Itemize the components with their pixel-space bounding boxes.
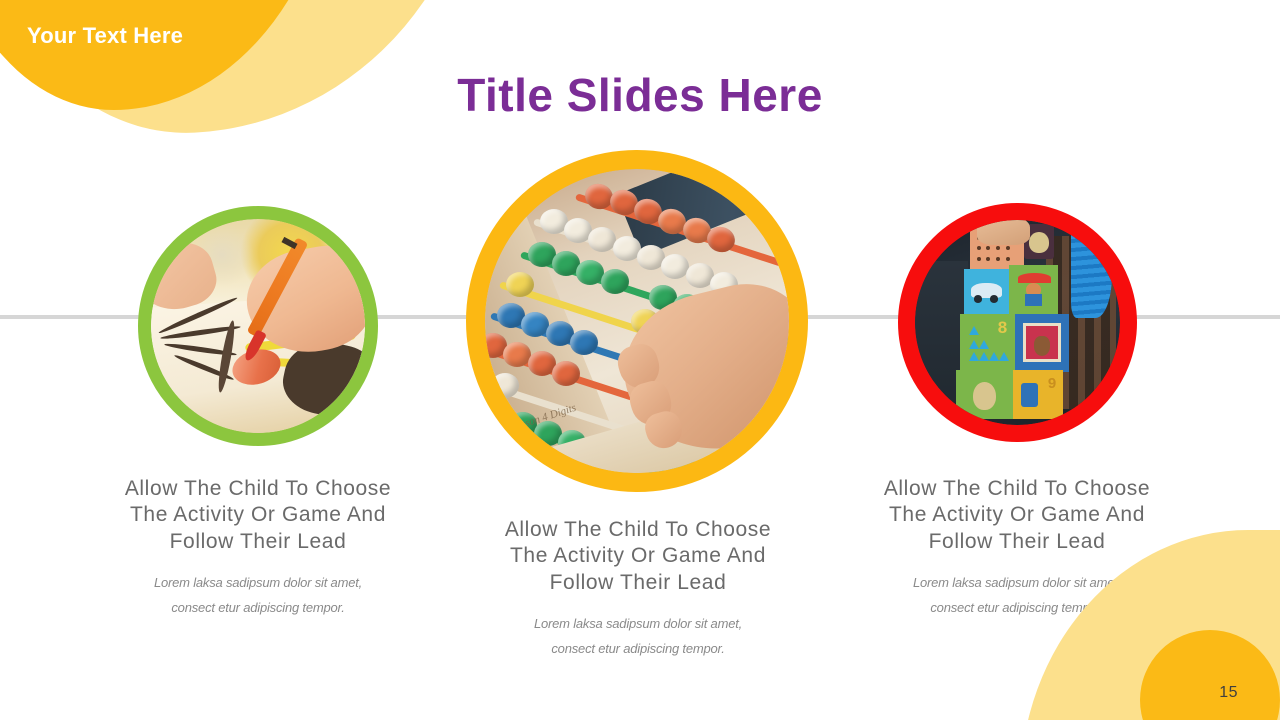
column-body-left: Lorem laksa sadipsum dolor sit amet, con…: [108, 571, 408, 620]
image-circle-left[interactable]: [138, 206, 378, 446]
photo-child-coloring: [151, 219, 365, 433]
slide-canvas: Your Text Here Title Slides Here: [0, 0, 1280, 720]
block-number-9: 9: [1048, 375, 1056, 392]
photo-toy-blocks: 8 9: [915, 220, 1120, 425]
image-circle-right[interactable]: 8 9: [898, 203, 1137, 442]
column-heading-right: Allow The Child To Choose The Activity O…: [867, 476, 1167, 555]
text-column-center: Allow The Child To Choose The Activity O…: [488, 517, 788, 662]
image-circle-center[interactable]: Lesson 4 Digits: [466, 150, 808, 492]
text-column-left: Allow The Child To Choose The Activity O…: [108, 476, 408, 621]
column-heading-center: Allow The Child To Choose The Activity O…: [488, 517, 788, 596]
kicker-text: Your Text Here: [27, 23, 183, 49]
page-number: 15: [1219, 684, 1238, 702]
page-title: Title Slides Here: [0, 68, 1280, 122]
column-body-center: Lorem laksa sadipsum dolor sit amet, con…: [488, 612, 788, 661]
photo-abacus: Lesson 4 Digits: [485, 169, 789, 473]
block-number-8: 8: [998, 318, 1007, 338]
column-heading-left: Allow The Child To Choose The Activity O…: [108, 476, 408, 555]
